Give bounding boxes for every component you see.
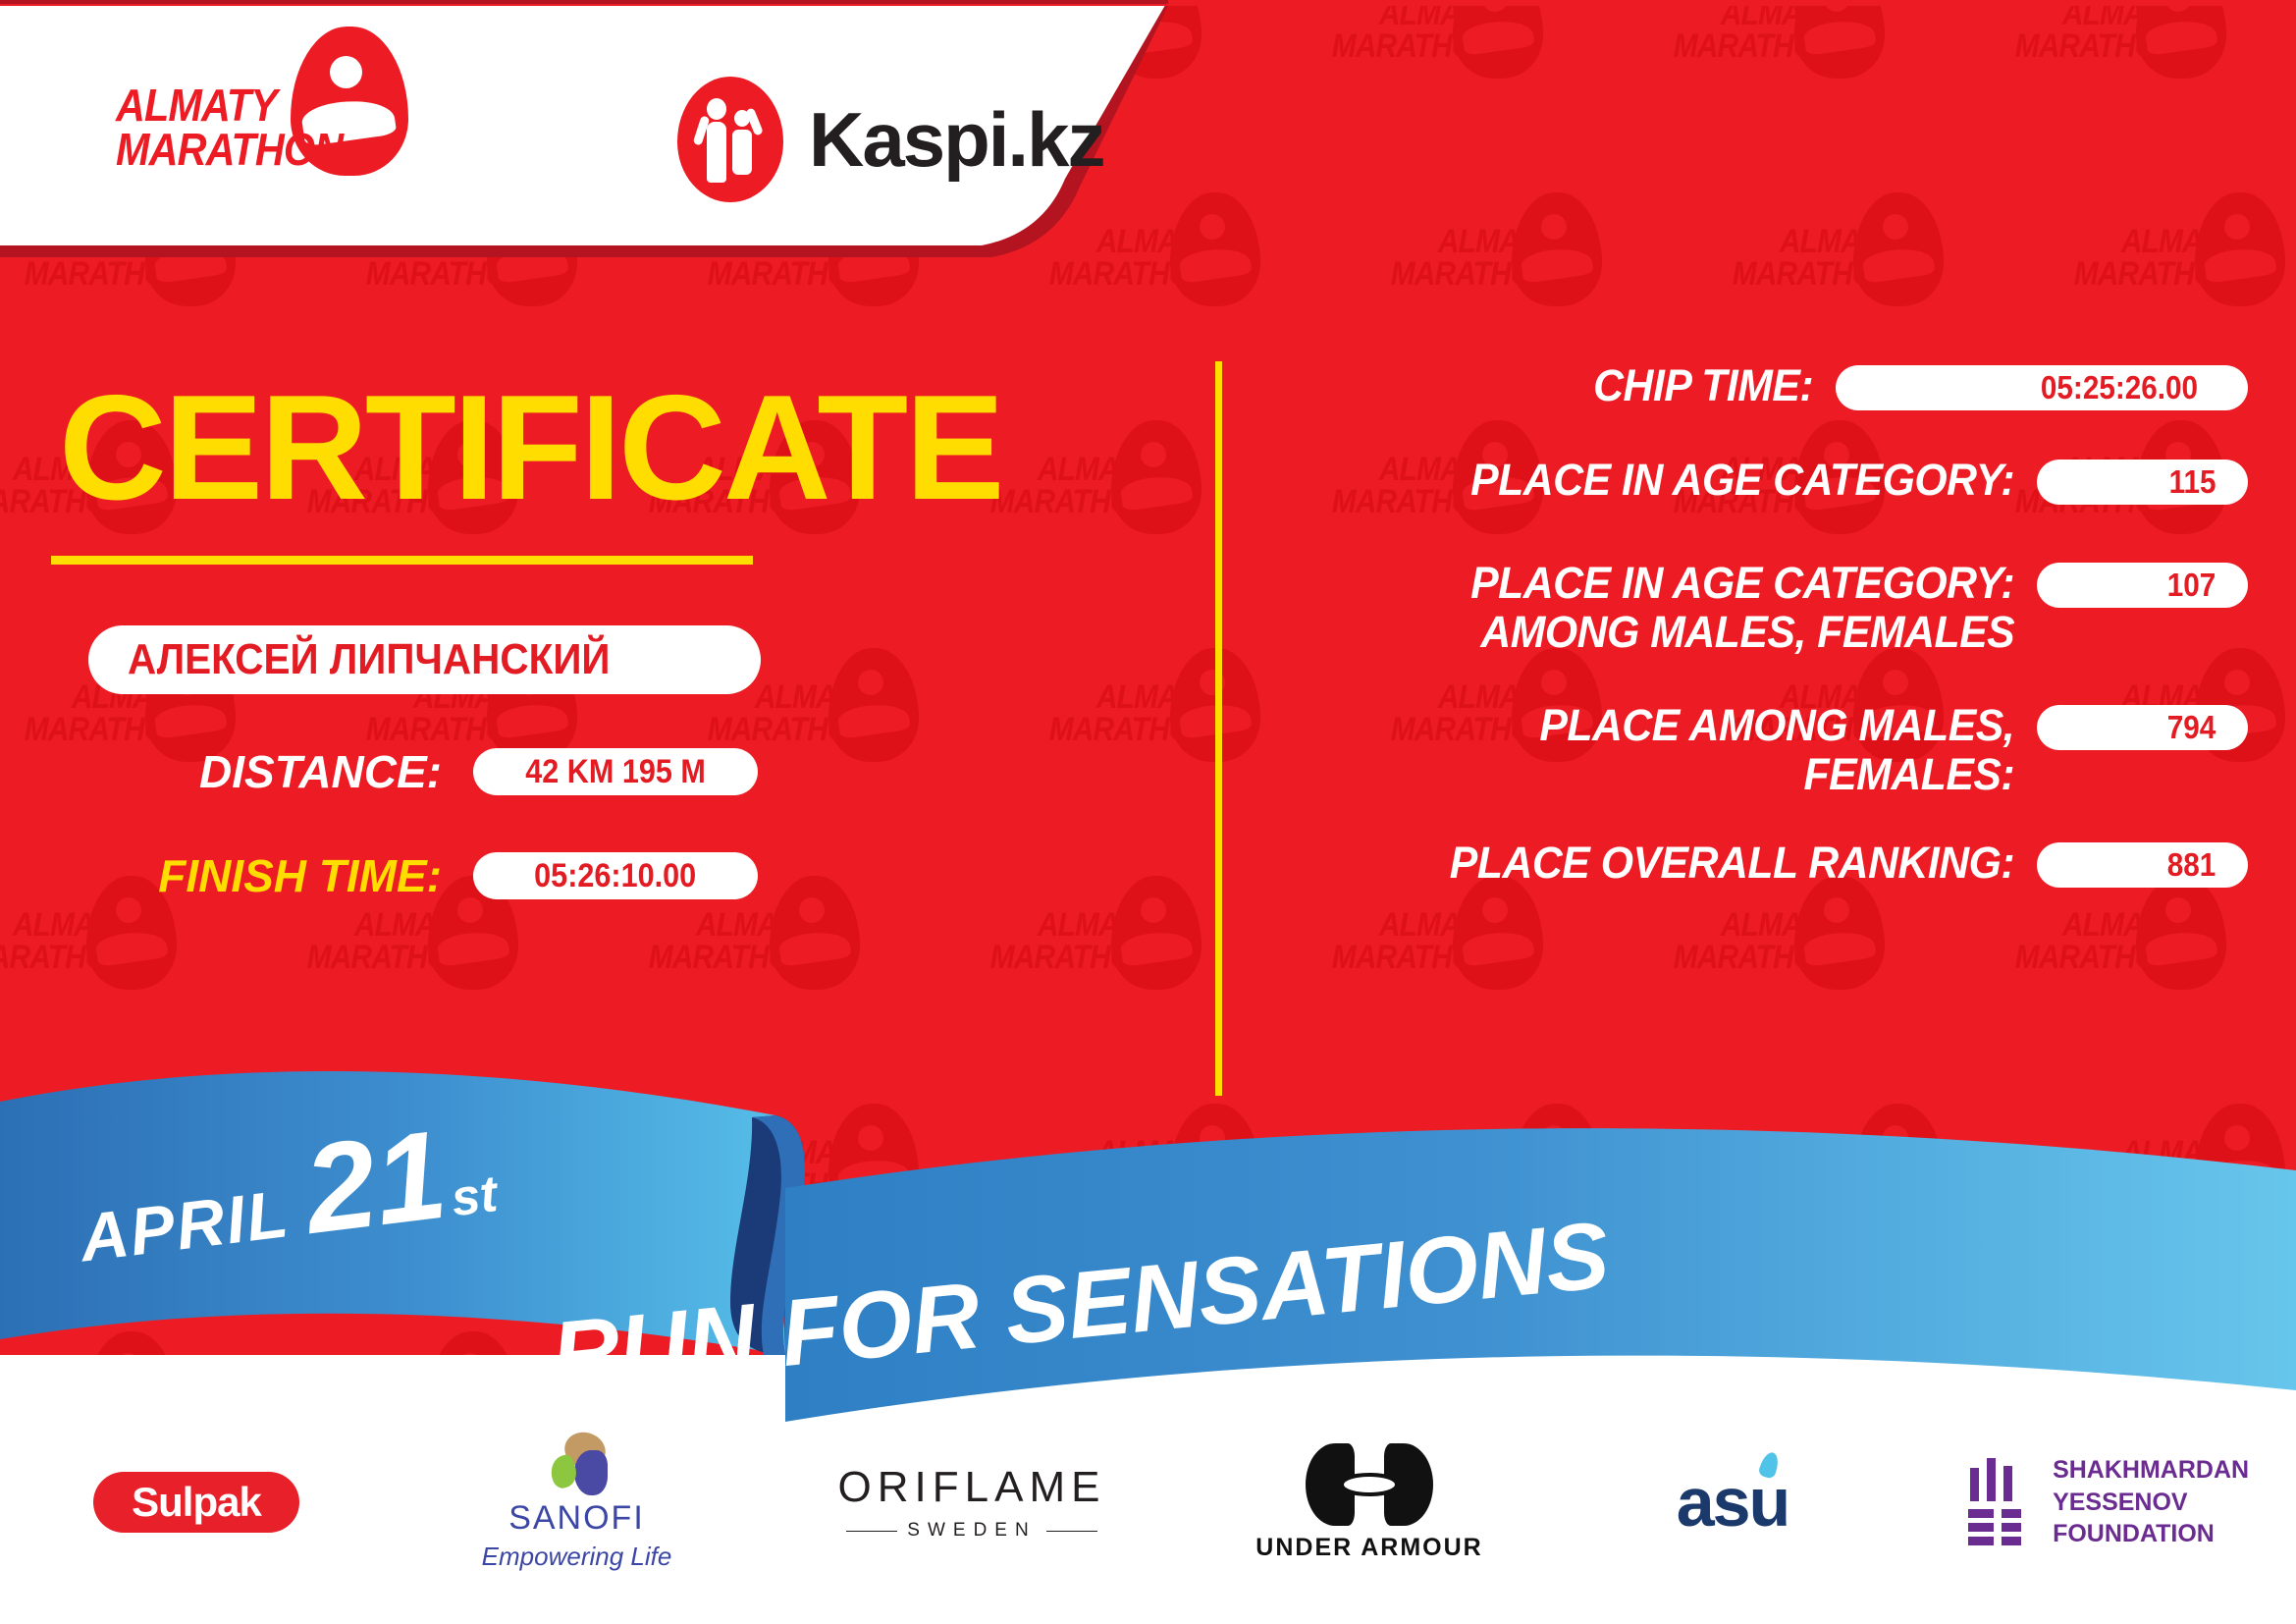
watermark-text: ALMATYMARATHON (936, 909, 1152, 973)
place-among-gender-value-pill: 794 (2037, 705, 2248, 750)
place-age-category-gender-label: PLACE IN AGE CATEGORY: AMONG MALES, FEMA… (1305, 559, 2037, 658)
sponsor-sanofi: SANOFI Empowering Life (471, 1433, 682, 1572)
certificate-page: ALMATYMARATHONALMATYMARATHONALMATYMARATH… (0, 0, 2296, 1624)
distance-value: 42 KM 195 M (525, 753, 706, 791)
logo-line-1: ALMATY (116, 83, 319, 128)
sponsor-yessenov-foundation: SHAKHMARDAN YESSENOV FOUNDATION (1968, 1454, 2296, 1550)
kaspi-figures-icon (677, 77, 783, 202)
label-line-2: FEMALES: (1305, 750, 2014, 799)
sponsor-sulpak: Sulpak (93, 1472, 299, 1533)
under-armour-icon (1306, 1443, 1433, 1526)
participant-name: АЛЕКСЕЙ ЛИПЧАНСКИЙ (128, 635, 611, 684)
chip-time-row: CHIP TIME: 05:25:26.00 (1266, 361, 2248, 410)
column-divider (1215, 361, 1222, 1096)
place-age-category-value-pill: 115 (2037, 460, 2248, 505)
label-line-1: PLACE IN AGE CATEGORY: (1305, 559, 2014, 608)
yessenov-glyph-icon (1968, 1458, 2031, 1546)
header-logos: ALMATY MARATHON Kaspi.kz (0, 0, 1178, 263)
sponsor-oriflame-sub: SWEDEN (907, 1520, 1036, 1542)
event-day-suffix: st (449, 1164, 501, 1228)
yessenov-line-1: SHAKHMARDAN YESSENOV (2053, 1454, 2296, 1518)
place-age-category-gender-row: PLACE IN AGE CATEGORY: AMONG MALES, FEMA… (1266, 559, 2248, 658)
kaspi-logo-text: Kaspi.kz (809, 95, 1103, 185)
place-age-category-gender-value: 107 (2167, 567, 2216, 604)
sponsor-yessenov-text: SHAKHMARDAN YESSENOV FOUNDATION (2053, 1454, 2296, 1550)
almaty-marathon-logo: ALMATY MARATHON (116, 48, 420, 215)
chip-time-value-pill: 05:25:26.00 (1836, 365, 2248, 410)
watermark-text: ALMATYMARATHON (253, 909, 469, 973)
sponsor-oriflame-text: ORIFLAME (838, 1463, 1106, 1512)
sponsor-oriflame-sub-row: SWEDEN (838, 1520, 1106, 1542)
participant-name-field: АЛЕКСЕЙ ЛИПЧАНСКИЙ (88, 625, 761, 694)
place-among-gender-row: PLACE AMONG MALES, FEMALES: 794 (1266, 701, 2248, 800)
certificate-left-column: CERTIFICATE АЛЕКСЕЙ ЛИПЧАНСКИЙ DISTANCE:… (0, 295, 1193, 902)
place-overall-ranking-value-pill: 881 (2037, 842, 2248, 888)
place-among-gender-label: PLACE AMONG MALES, FEMALES: (1305, 701, 2037, 800)
sanofi-bird-icon (543, 1433, 612, 1493)
watermark-tile: ALMATYMARATHON (2273, 872, 2296, 1058)
sponsor-under-armour: UNDER ARMOUR (1252, 1443, 1487, 1562)
sponsor-logos: Sulpak SANOFI Empowering Life ORIFLAME S… (0, 1404, 2296, 1600)
chip-time-label: CHIP TIME: (1295, 361, 1836, 410)
almaty-marathon-logo-text: ALMATY MARATHON (116, 83, 319, 172)
watermark-text: ALMATYMARATHON (0, 909, 128, 973)
place-age-category-gender-value-pill: 107 (2037, 563, 2248, 608)
watermark-text: ALMATYMARATHON (595, 909, 811, 973)
sponsor-sulpak-text: Sulpak (132, 1479, 261, 1526)
sponsor-asu: asu (1634, 1468, 1831, 1537)
event-day: 21 (299, 1118, 452, 1248)
certificate-stats-column: CHIP TIME: 05:25:26.00 PLACE IN AGE CATE… (1266, 361, 2248, 934)
sponsor-sanofi-text: SANOFI (482, 1499, 672, 1538)
rule-left (846, 1531, 897, 1532)
label-line-1: PLACE AMONG MALES, (1305, 701, 2014, 750)
finish-time-value: 05:26:10.00 (534, 857, 696, 895)
sponsor-asu-text: asu (1677, 1468, 1789, 1537)
watermark-tile: ALMATYMARATHON (2273, 416, 2296, 603)
place-age-category-label: PLACE IN AGE CATEGORY: (1305, 456, 2037, 505)
rule-right (1046, 1531, 1097, 1532)
yessenov-line-2: FOUNDATION (2053, 1518, 2296, 1550)
sponsor-sanofi-tagline: Empowering Life (482, 1542, 672, 1572)
place-among-gender-value: 794 (2167, 709, 2216, 746)
place-overall-ranking-row: PLACE OVERALL RANKING: 881 (1266, 839, 2248, 888)
place-overall-ranking-label: PLACE OVERALL RANKING: (1305, 839, 2037, 888)
finish-time-value-pill: 05:26:10.00 (473, 852, 758, 899)
distance-value-pill: 42 KM 195 M (473, 748, 758, 795)
distance-label: DISTANCE: (0, 745, 442, 798)
place-age-category-value: 115 (2168, 463, 2216, 501)
kaspi-logo: Kaspi.kz (677, 77, 1103, 202)
finish-time-row: FINISH TIME: 05:26:10.00 (0, 849, 1193, 902)
sponsor-oriflame: ORIFLAME SWEDEN (839, 1463, 1104, 1542)
title-underline (51, 556, 753, 565)
place-overall-ranking-value: 881 (2167, 846, 2216, 884)
logo-line-2: MARATHON (116, 128, 319, 172)
finish-time-label: FINISH TIME: (0, 849, 442, 902)
distance-row: DISTANCE: 42 KM 195 M (0, 745, 1193, 798)
chip-time-value: 05:25:26.00 (2041, 369, 2198, 406)
page-title: CERTIFICATE (59, 373, 1193, 522)
label-line-2: AMONG MALES, FEMALES (1305, 608, 2014, 657)
sponsor-under-armour-text: UNDER ARMOUR (1255, 1534, 1482, 1562)
place-age-category-row: PLACE IN AGE CATEGORY: 115 (1266, 456, 2248, 505)
